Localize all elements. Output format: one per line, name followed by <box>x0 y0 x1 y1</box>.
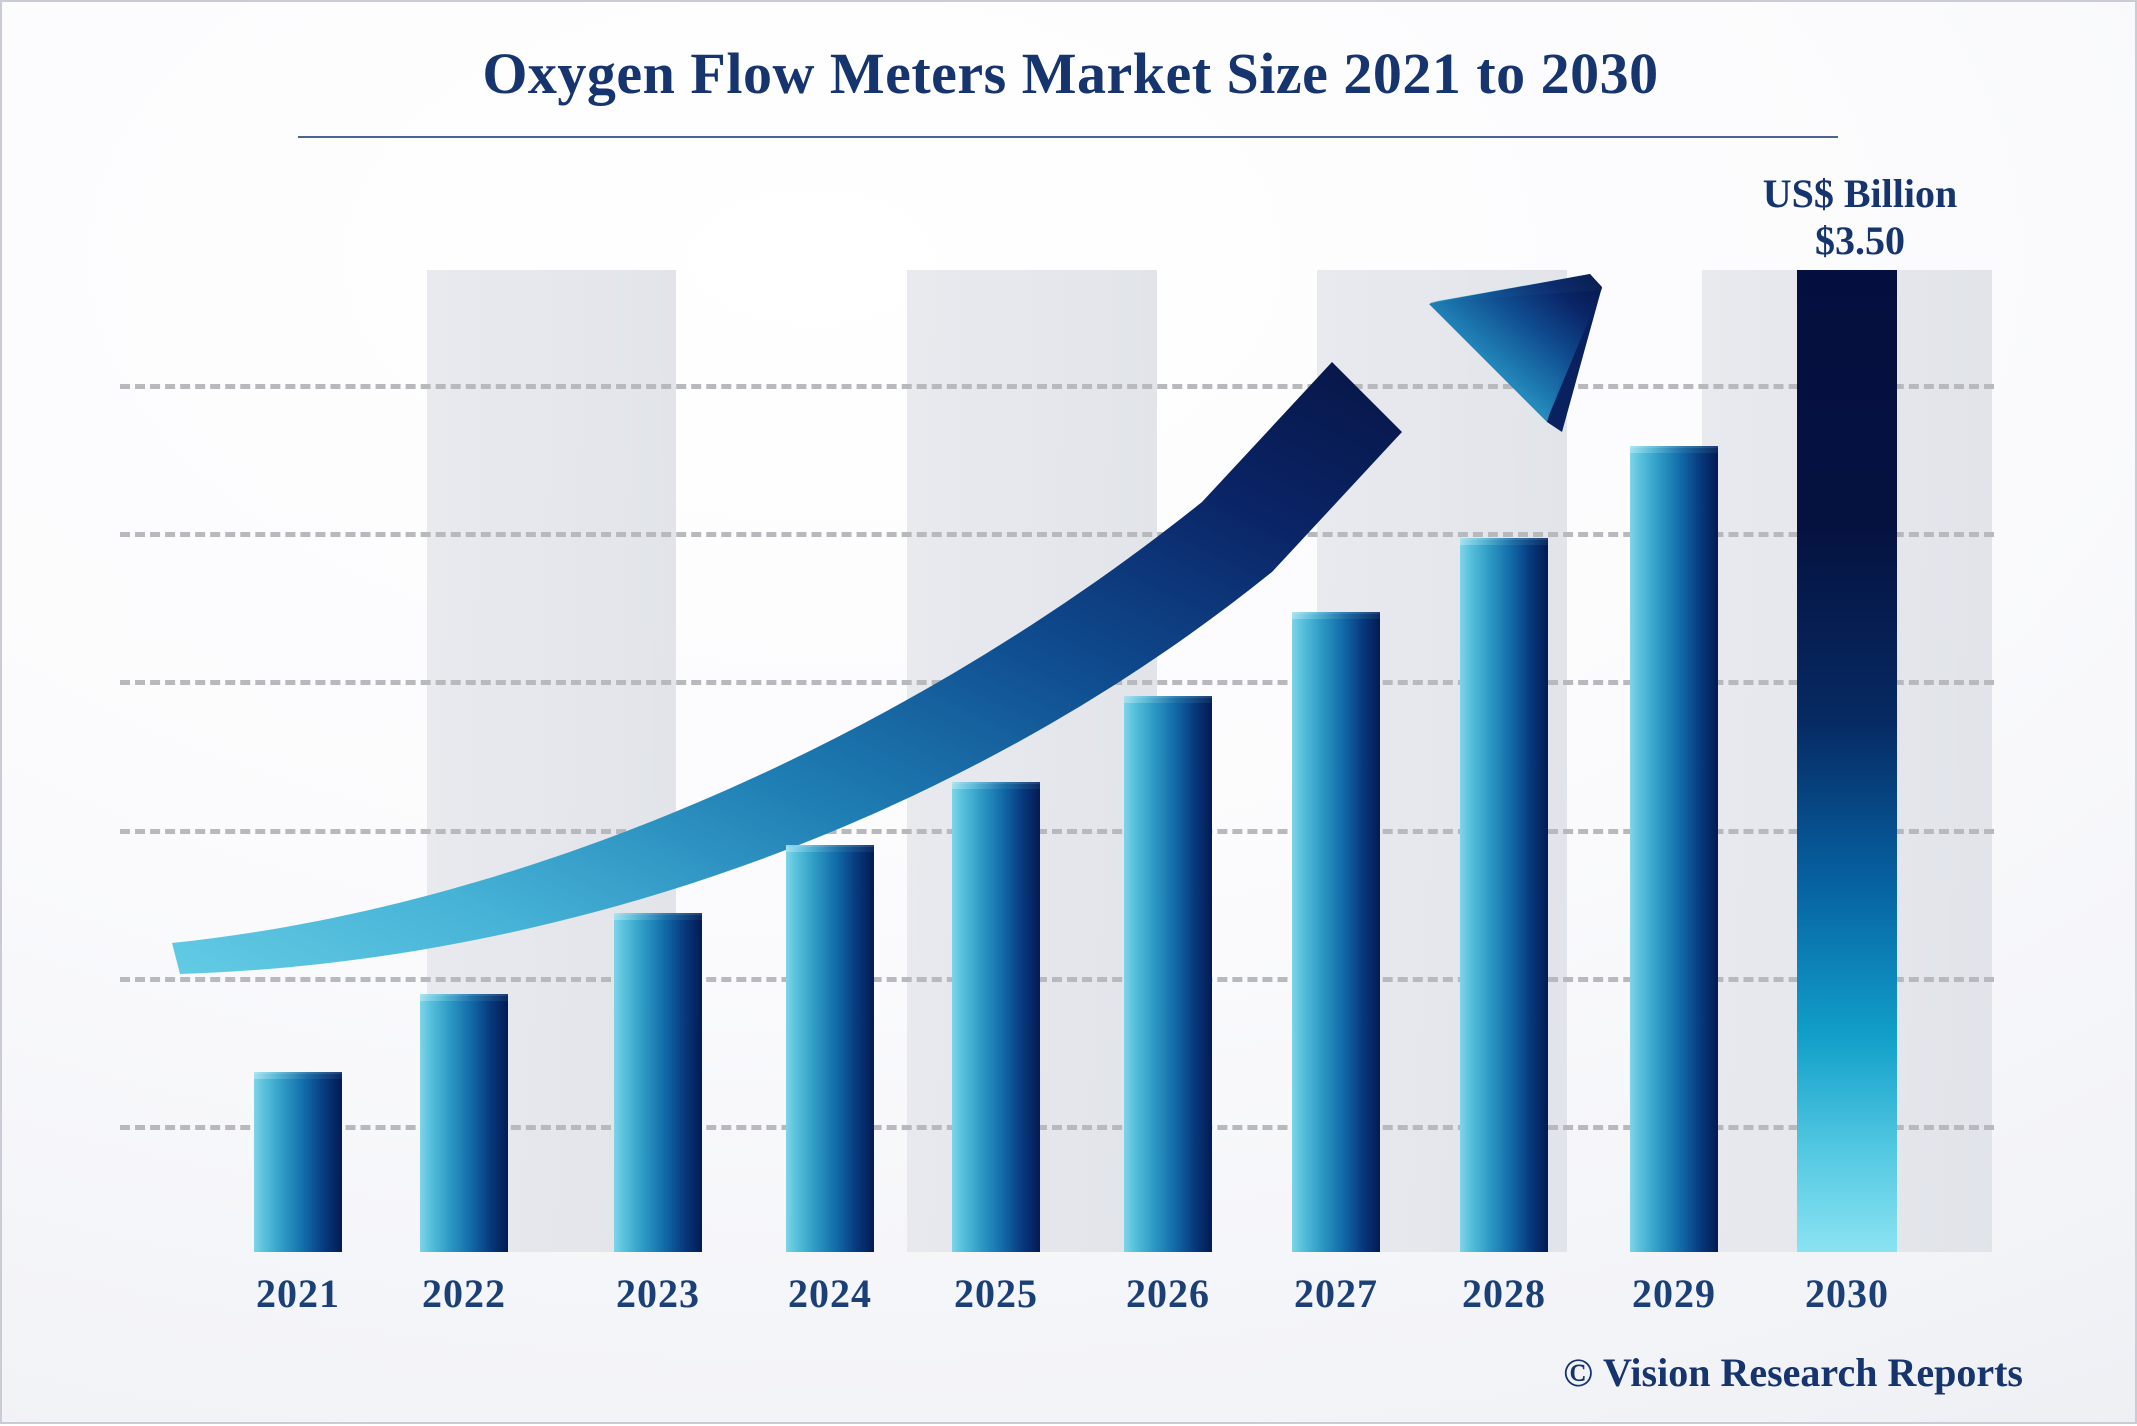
chart-frame: Oxygen Flow Meters Market Size 2021 to 2… <box>0 0 2137 1424</box>
x-tick-2021: 2021 <box>218 1270 378 1317</box>
bar-2026 <box>1124 698 1212 1252</box>
bar-cap-2023 <box>614 913 702 920</box>
bar-2029 <box>1630 448 1718 1252</box>
bar-2023 <box>614 915 702 1252</box>
x-tick-2029: 2029 <box>1594 1270 1754 1317</box>
x-tick-2030: 2030 <box>1767 1270 1927 1317</box>
bar-cap-2025 <box>952 782 1040 789</box>
bar-cap-2024 <box>786 845 874 852</box>
bar-2021 <box>254 1074 342 1252</box>
x-tick-2026: 2026 <box>1088 1270 1248 1317</box>
attribution-text: Vision Research Reports <box>1603 1350 2023 1395</box>
copyright-icon: © <box>1563 1350 1593 1395</box>
bar-cap-2029 <box>1630 446 1718 453</box>
bar-cap-2021 <box>254 1072 342 1079</box>
bar-2024 <box>786 847 874 1252</box>
gridline <box>120 384 1994 389</box>
x-tick-2025: 2025 <box>916 1270 1076 1317</box>
plot-area: 2021 2022 2023 2024 2025 2026 2027 2028 … <box>2 2 2137 1426</box>
bar-2022 <box>420 996 508 1252</box>
bar-2025 <box>952 784 1040 1252</box>
bar-cap-2028 <box>1460 538 1548 545</box>
x-tick-2022: 2022 <box>384 1270 544 1317</box>
bar-2030 <box>1797 270 1897 1252</box>
bar-2028 <box>1460 540 1548 1252</box>
x-tick-2024: 2024 <box>750 1270 910 1317</box>
bar-2027 <box>1292 614 1380 1252</box>
bar-cap-2022 <box>420 994 508 1001</box>
bar-cap-2026 <box>1124 696 1212 703</box>
x-tick-2027: 2027 <box>1256 1270 1416 1317</box>
x-tick-2028: 2028 <box>1424 1270 1584 1317</box>
x-tick-2023: 2023 <box>578 1270 738 1317</box>
bar-cap-2027 <box>1292 612 1380 619</box>
watermark-attribution: ©Vision Research Reports <box>1563 1349 2023 1396</box>
